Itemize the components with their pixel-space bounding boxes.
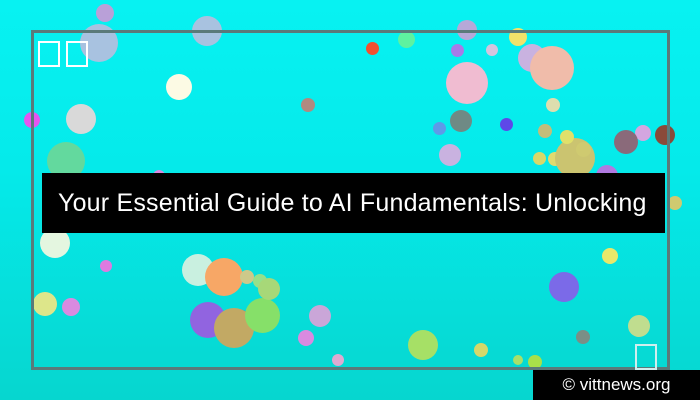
decorative-bubble xyxy=(530,46,574,90)
broken-image-placeholder-1-icon xyxy=(38,41,60,67)
decorative-bubble xyxy=(628,315,650,337)
decorative-bubble xyxy=(500,118,513,131)
decorative-bubble xyxy=(96,4,114,22)
decorative-bubble xyxy=(366,42,379,55)
decorative-bubble xyxy=(446,62,488,104)
watermark-badge: © vittnews.org xyxy=(533,370,700,400)
decorative-bubble xyxy=(546,98,560,112)
decorative-bubble xyxy=(614,130,638,154)
decorative-bubble xyxy=(301,98,315,112)
decorative-bubble xyxy=(100,260,112,272)
decorative-bubble xyxy=(433,122,446,135)
broken-image-placeholder-3-icon xyxy=(635,344,657,370)
decorative-bubble xyxy=(668,196,682,210)
decorative-bubble xyxy=(398,31,415,48)
decorative-bubble xyxy=(205,258,243,296)
decorative-bubble xyxy=(309,305,331,327)
decorative-bubble xyxy=(24,112,40,128)
decorative-bubble xyxy=(298,330,314,346)
decorative-bubble xyxy=(549,272,579,302)
broken-image-placeholder-2-icon xyxy=(66,41,88,67)
decorative-bubble xyxy=(439,144,461,166)
watermark-label: © vittnews.org xyxy=(563,375,671,395)
decorative-bubble xyxy=(450,110,472,132)
decorative-bubble xyxy=(576,142,591,157)
decorative-bubble xyxy=(509,28,527,46)
decorative-bubble xyxy=(408,330,438,360)
decorative-bubble xyxy=(33,292,57,316)
decorative-bubble xyxy=(192,16,222,46)
decorative-bubble xyxy=(258,278,280,300)
decorative-bubble xyxy=(513,355,523,365)
decorative-bubble xyxy=(245,298,280,333)
decorative-bubble xyxy=(576,330,590,344)
decorative-bubble xyxy=(451,44,464,57)
decorative-bubble xyxy=(538,124,552,138)
decorative-bubble xyxy=(655,125,675,145)
decorative-bubble xyxy=(66,104,96,134)
decorative-bubble xyxy=(332,354,344,366)
title-banner: Your Essential Guide to AI Fundamentals:… xyxy=(42,173,665,233)
decorative-bubble xyxy=(457,20,477,40)
decorative-bubble xyxy=(240,270,254,284)
decorative-bubble xyxy=(533,152,546,165)
decorative-bubble xyxy=(602,248,618,264)
article-thumbnail-image: Your Essential Guide to AI Fundamentals:… xyxy=(0,0,700,400)
decorative-bubble xyxy=(528,355,542,369)
decorative-bubble xyxy=(474,343,488,357)
decorative-bubble xyxy=(166,74,192,100)
decorative-bubble xyxy=(560,130,574,144)
decorative-bubble xyxy=(486,44,498,56)
page-title: Your Essential Guide to AI Fundamentals:… xyxy=(42,189,647,218)
decorative-bubble xyxy=(62,298,80,316)
